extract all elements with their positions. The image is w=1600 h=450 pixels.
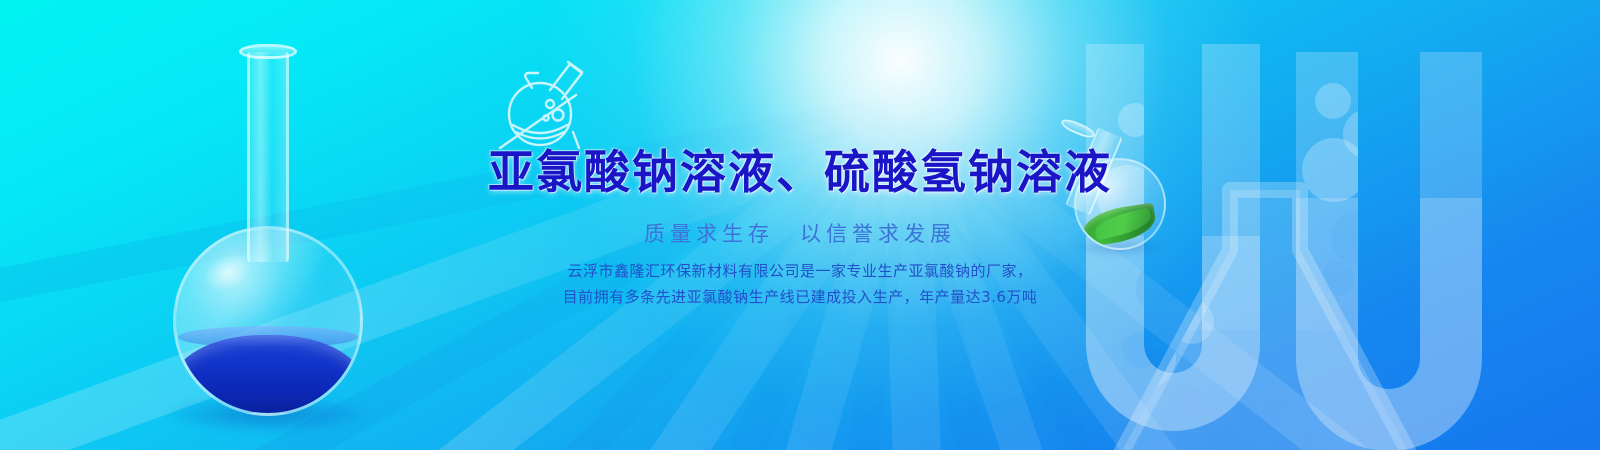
flask-lip xyxy=(239,44,297,59)
leaf-flask-lip xyxy=(1059,116,1096,140)
liquid-meniscus xyxy=(178,326,358,348)
flask-blue-liquid xyxy=(173,335,363,416)
banner-text-block: 亚氯酸钠溶液、硫酸氢钠溶液 质量求生存 以信誉求发展 云浮市鑫隆汇环保新材料有限… xyxy=(0,148,1600,309)
banner-subtitle: 质量求生存 以信誉求发展 xyxy=(0,218,1600,248)
banner-description-line-2: 目前拥有多条先进亚氯酸钠生产线已建成投入生产，年产量达3.6万吨 xyxy=(0,286,1600,309)
outline-flask-with-bubbles-icon xyxy=(484,52,596,158)
product-banner: 亚氯酸钠溶液、硫酸氢钠溶液 质量求生存 以信誉求发展 云浮市鑫隆汇环保新材料有限… xyxy=(0,0,1600,450)
banner-description-line-1: 云浮市鑫隆汇环保新材料有限公司是一家专业生产亚氯酸钠的厂家， xyxy=(0,260,1600,283)
page-title: 亚氯酸钠溶液、硫酸氢钠溶液 xyxy=(0,148,1600,196)
